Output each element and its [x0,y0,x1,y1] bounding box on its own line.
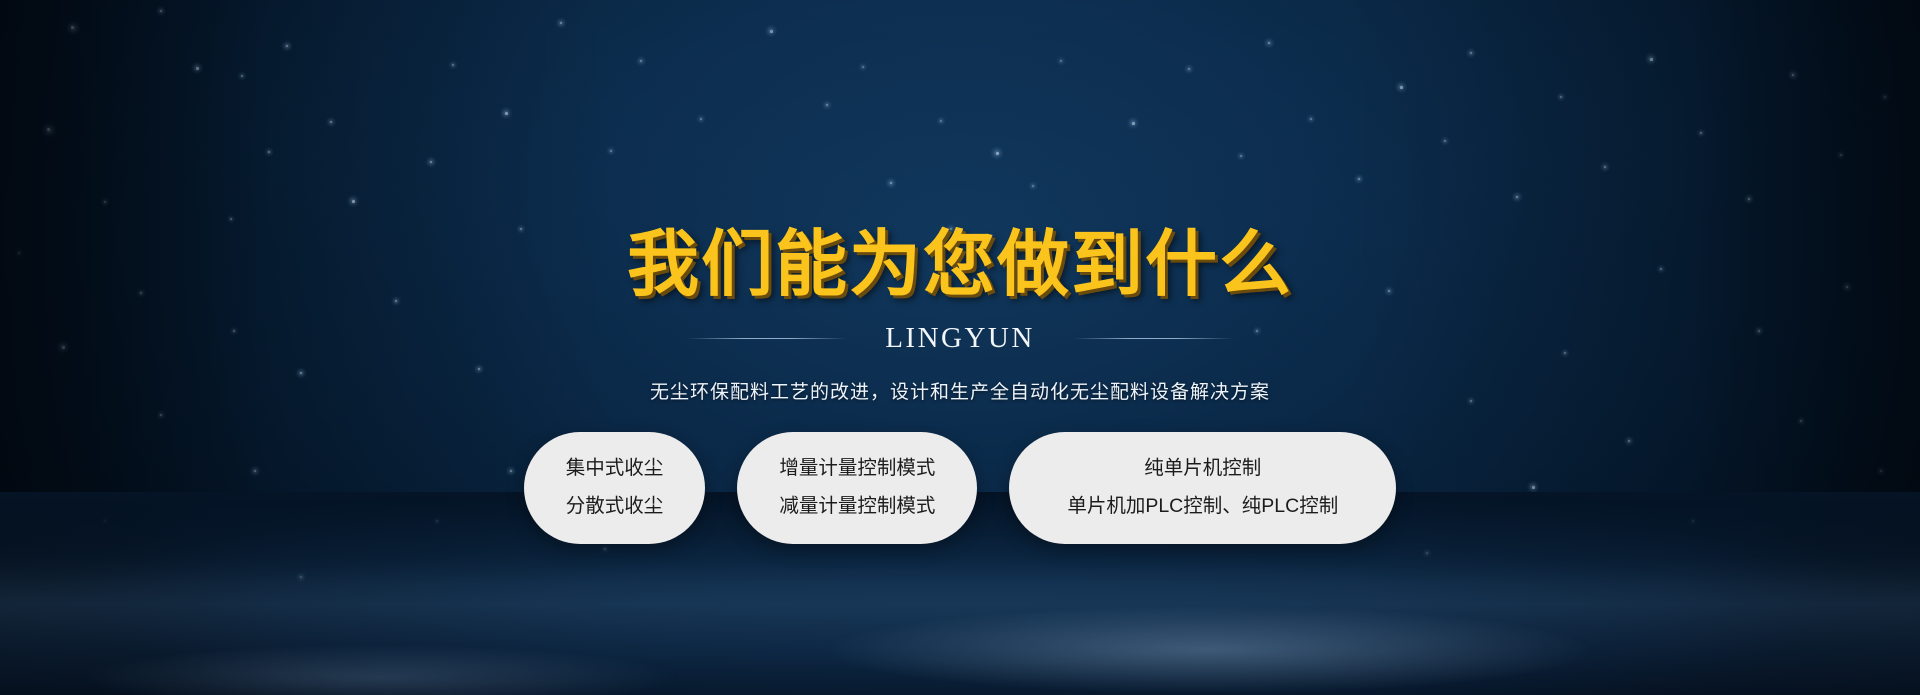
divider-left [687,338,847,339]
card-line: 集中式收尘 [566,458,664,479]
card-line: 纯单片机控制 [1144,458,1261,479]
card-line: 分散式收尘 [566,496,664,517]
page-title: 我们能为您做到什么 [627,228,1293,300]
feature-card-metering-control-mode[interactable]: 增量计量控制模式 减量计量控制模式 [737,432,977,544]
card-line: 增量计量控制模式 [779,458,935,479]
feature-card-controller-options[interactable]: 纯单片机控制 单片机加PLC控制、纯PLC控制 [1009,432,1396,544]
divider-right [1073,338,1233,339]
banner-content: 我们能为您做到什么 LINGYUN 无尘环保配料工艺的改进，设计和生产全自动化无… [0,0,1920,695]
hero-banner: 我们能为您做到什么 LINGYUN 无尘环保配料工艺的改进，设计和生产全自动化无… [0,0,1920,695]
card-line: 单片机加PLC控制、纯PLC控制 [1067,496,1338,517]
feature-card-list: 集中式收尘 分散式收尘 增量计量控制模式 减量计量控制模式 纯单片机控制 单片机… [524,432,1396,544]
feature-card-dust-collection[interactable]: 集中式收尘 分散式收尘 [524,432,706,544]
brand-row: LINGYUN [687,322,1233,355]
brand-name: LINGYUN [885,322,1035,355]
tagline: 无尘环保配料工艺的改进，设计和生产全自动化无尘配料设备解决方案 [650,377,1270,404]
card-line: 减量计量控制模式 [779,496,935,517]
